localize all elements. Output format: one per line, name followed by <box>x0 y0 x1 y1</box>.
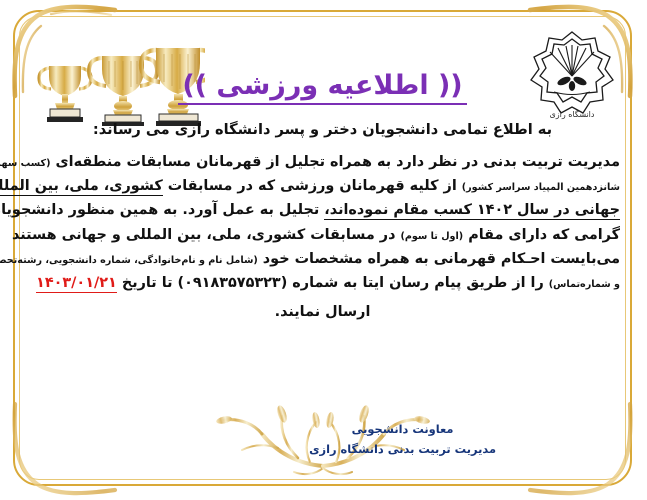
title-container: (( اطلاعیه ورزشی )) <box>0 70 647 105</box>
body-text-run: جهانی در سال ۱۴۰۲ کسب مقام نموده‌اند، <box>325 202 621 220</box>
announcement-body: به اطلاع تمامی دانشجویان دختر و پسر دانش… <box>26 118 621 325</box>
body-text-run: و شماره‌تماس) <box>550 279 621 290</box>
corner-flourish-bottom-left <box>8 401 128 496</box>
body-lines: مدیریت تربیت بدنی در نظر دارد به همراه ت… <box>26 151 621 296</box>
body-line: شانزدهمین المپیاد سراسر کشور) از کلیه قه… <box>26 175 621 198</box>
body-text-run: در مسابقات کشوری، ملی، بین المللی و جهان… <box>13 227 402 243</box>
salutation-line: به اطلاع تمامی دانشجویان دختر و پسر دانش… <box>26 118 621 142</box>
body-line: جهانی در سال ۱۴۰۲ کسب مقام نموده‌اند، تج… <box>26 199 621 222</box>
body-text-run: کشوری، ملی، بین المللی و <box>0 178 164 196</box>
corner-flourish-bottom-right <box>519 401 639 496</box>
body-line: می‌بایست احـکام قهرمانی به همراه مشخصات … <box>26 248 621 271</box>
body-text-run: شانزدهمین المپیاد سراسر کشور) <box>463 182 621 193</box>
body-text-run: می‌بایست احـکام قهرمانی به همراه مشخصات … <box>259 251 621 267</box>
body-text-run: مدیریت تربیت بدنی در نظر دارد به همراه ت… <box>51 154 621 170</box>
signature-block: معاونت دانشجویی مدیریت تربیت بدنی دانشگا… <box>310 420 497 460</box>
body-line: مدیریت تربیت بدنی در نظر دارد به همراه ت… <box>26 151 621 174</box>
body-text-run: تجلیل به عمل آورد. به همین منظور دانشجوی… <box>0 202 325 218</box>
body-line: گرامی که دارای مقام (اول تا سوم) در مساب… <box>26 224 621 247</box>
body-text-run: ۱۴۰۳/۰۱/۲۱ <box>37 275 118 293</box>
body-text-run: از کلیه قهرمانان ورزشی که در مسابقات <box>164 178 463 194</box>
announcement-poster: دانشگاه رازی (( اطلاعیه ورزشی )) به اطلا… <box>0 0 647 500</box>
body-text-run: را از طریق پیام رسان ایتا به شماره (۰۹۱۸… <box>118 275 550 291</box>
body-text-run: (کسب سهمیه <box>0 158 51 169</box>
signature-line-2: مدیریت تربیت بدنی دانشگاه رازی <box>310 440 497 460</box>
page-title: (( اطلاعیه ورزشی )) <box>179 70 467 105</box>
closing-line: ارسال نمایند. <box>26 301 621 324</box>
body-text-run: (شامل نام و نام‌خانوادگی، شماره دانشجویی… <box>0 255 259 266</box>
signature-line-1: معاونت دانشجویی <box>310 420 497 440</box>
body-text-run: گرامی که دارای مقام <box>464 227 621 243</box>
body-line: و شماره‌تماس) را از طریق پیام رسان ایتا … <box>26 272 621 295</box>
body-text-run: (اول تا سوم) <box>401 231 464 242</box>
